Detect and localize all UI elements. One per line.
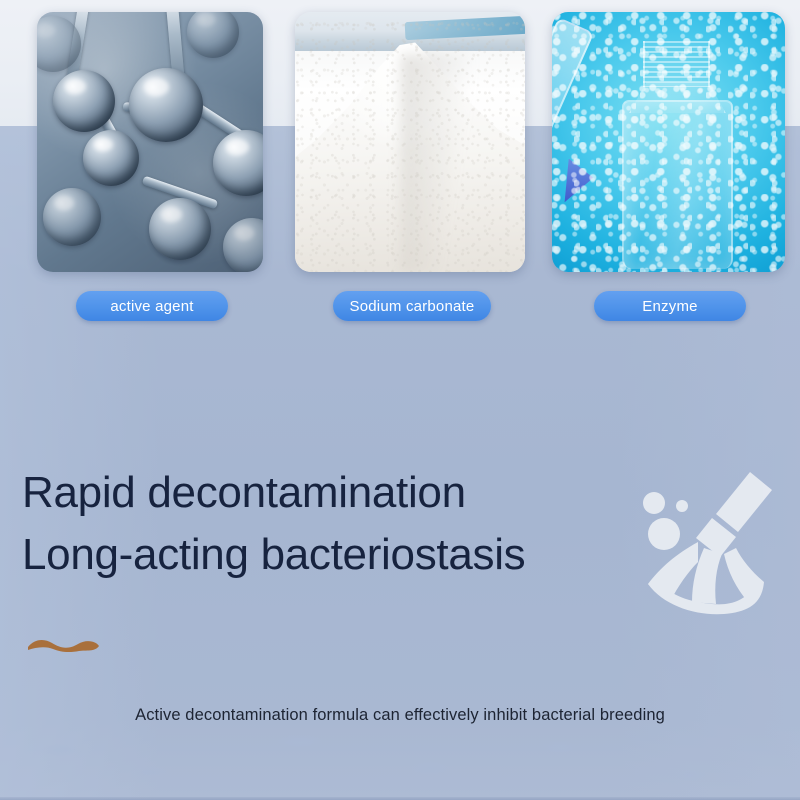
ingredient-card-sodium-carbonate[interactable] <box>295 12 525 272</box>
ingredient-label-sodium-carbonate[interactable]: Sodium carbonate <box>333 291 491 321</box>
ingredient-card-active-agent[interactable] <box>37 12 263 272</box>
molecular-structure-photo <box>37 12 263 272</box>
enzyme-bottle-photo <box>552 12 785 272</box>
headline: Rapid decontamination Long-acting bacter… <box>22 462 662 586</box>
ingredient-card-enzyme[interactable] <box>552 12 785 272</box>
ingredient-card-row <box>0 0 800 330</box>
ingredient-label-text: active agent <box>110 298 193 315</box>
white-powder-photo <box>295 12 525 272</box>
product-feature-poster: active agent Sodium carbonate Enzyme Rap… <box>0 0 800 800</box>
ingredient-label-text: Enzyme <box>642 298 697 315</box>
headline-line-2: Long-acting bacteriostasis <box>22 524 662 586</box>
ingredient-label-active-agent[interactable]: active agent <box>76 291 228 321</box>
caption: Active decontamination formula can effec… <box>0 706 800 725</box>
ingredient-label-enzyme[interactable]: Enzyme <box>594 291 746 321</box>
worm-squiggle-icon <box>24 630 102 660</box>
ingredient-label-text: Sodium carbonate <box>350 298 475 315</box>
headline-line-1: Rapid decontamination <box>22 462 662 524</box>
